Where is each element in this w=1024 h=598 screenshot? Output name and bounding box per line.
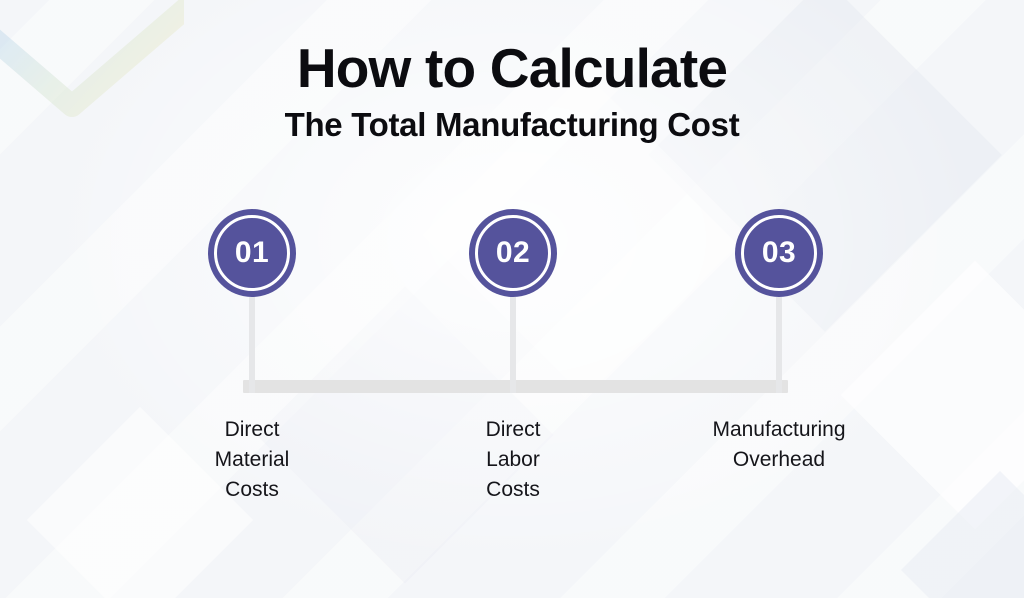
step-connector-stem: [249, 297, 255, 393]
step-number-badge-3: 03: [735, 209, 823, 297]
step-number-2: 02: [496, 238, 530, 268]
step-connector-stem: [510, 297, 516, 393]
step-item-3: 03 Manufacturing Overhead: [735, 209, 823, 297]
step-item-1: 01 Direct Material Costs: [208, 209, 296, 297]
step-number-3: 03: [762, 238, 796, 268]
step-number-badge-2: 02: [469, 209, 557, 297]
step-number-badge-1: 01: [208, 209, 296, 297]
step-item-2: 02 Direct Labor Costs: [469, 209, 557, 297]
steps-timeline: 01 Direct Material Costs 02 Direct Labor…: [0, 0, 1024, 598]
step-connector-stem: [776, 297, 782, 393]
infographic-canvas: How to Calculate The Total Manufacturing…: [0, 0, 1024, 598]
step-label-1: Direct Material Costs: [122, 415, 382, 505]
step-number-1: 01: [235, 238, 269, 268]
step-label-2: Direct Labor Costs: [383, 415, 643, 505]
step-label-3: Manufacturing Overhead: [649, 415, 909, 475]
